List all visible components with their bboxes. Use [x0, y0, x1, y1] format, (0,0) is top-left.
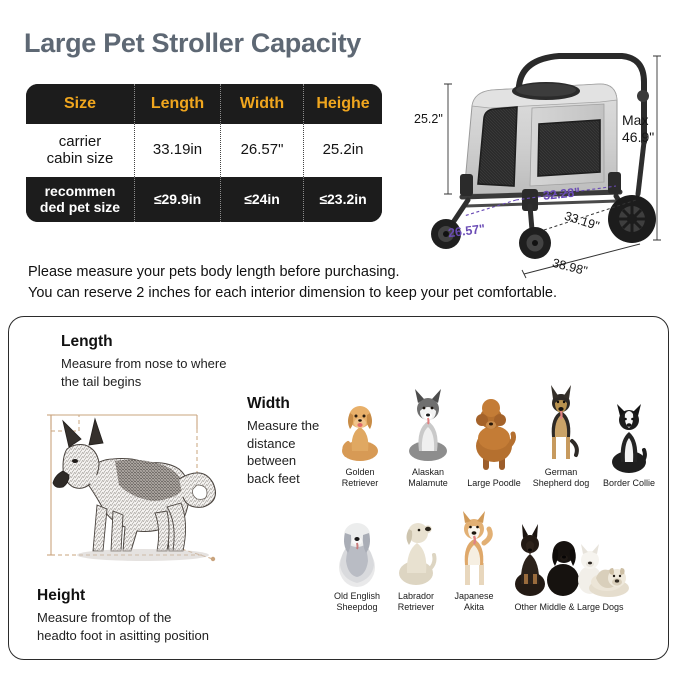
breed-caption: Large Poodle	[467, 476, 521, 489]
spec-table: Size Length Width Heighe carrier cabin s…	[26, 84, 382, 222]
breed-caption: German Shepherd dog	[533, 465, 590, 489]
breed-item-labrador-retriever: Labrador Retriever	[387, 495, 445, 613]
breed-caption: Other Middle & Large Dogs	[514, 600, 623, 613]
column-header-width: Width	[220, 84, 303, 124]
row-label-recommended-pet-size: recommen ded pet size	[26, 177, 134, 222]
german-shepherd-icon	[525, 371, 597, 465]
breed-item-golden-retriever: Golden Retriever	[327, 371, 393, 489]
breed-caption: Border Collie	[603, 476, 655, 489]
column-header-height: Heighe	[303, 84, 382, 124]
japanese-akita-icon	[445, 495, 503, 589]
cell-pet-length: ≤29.9in	[134, 177, 220, 222]
table-row: carrier cabin size 33.19in 26.57" 25.2in	[26, 124, 382, 177]
other-dogs-group-icon	[503, 495, 635, 600]
breed-item-large-poodle: Large Poodle	[463, 371, 525, 489]
measure-guide-panel: Length Measure from nose to where the ta…	[8, 316, 669, 660]
golden-retriever-icon	[327, 371, 393, 465]
cell-cabin-width: 26.57"	[220, 124, 303, 177]
breed-item-border-collie: Border Collie	[597, 371, 661, 489]
breed-caption: Japanese Akita	[454, 589, 493, 613]
note-line-2: You can reserve 2 inches for each interi…	[28, 283, 557, 304]
breed-row-2: Old English Sheepdog Labrador Ret	[327, 495, 663, 613]
row-label-cabin-size: carrier cabin size	[26, 124, 134, 177]
border-collie-icon	[597, 371, 661, 476]
breed-grid: Golden Retriever	[327, 371, 663, 621]
cell-pet-height: ≤23.2in	[303, 177, 382, 222]
breed-item-german-shepherd-dog: German Shepherd dog	[525, 371, 597, 489]
cell-pet-width: ≤24in	[220, 177, 303, 222]
breed-item-other-middle-large-dogs: Other Middle & Large Dogs	[503, 495, 635, 613]
breed-caption: Alaskan Malamute	[393, 465, 463, 489]
breed-item-old-english-sheepdog: Old English Sheepdog	[327, 495, 387, 613]
length-heading: Length	[61, 333, 113, 351]
cell-cabin-height: 25.2in	[303, 124, 382, 177]
breed-caption: Old English Sheepdog	[334, 589, 380, 613]
page-title: Large Pet Stroller Capacity	[24, 28, 361, 59]
height-description: Measure fromtop of the headto foot in as…	[37, 609, 209, 644]
breed-item-japanese-akita: Japanese Akita	[445, 495, 503, 613]
dimension-label-height: 25.2"	[414, 112, 443, 126]
length-description: Measure from nose to where the tail begi…	[61, 355, 226, 390]
dimension-label-max-handle: Max 46.9"	[622, 112, 654, 146]
table-row: recommen ded pet size ≤29.9in ≤24in ≤23.…	[26, 177, 382, 222]
breed-caption: Labrador Retriever	[398, 589, 435, 613]
breed-caption: Golden Retriever	[327, 465, 393, 489]
old-english-sheepdog-icon	[327, 495, 387, 589]
column-header-length: Length	[134, 84, 220, 124]
column-header-size: Size	[26, 84, 134, 124]
cell-cabin-length: 33.19in	[134, 124, 220, 177]
wheel-rear	[608, 195, 656, 243]
table-header-row: Size Length Width Heighe	[26, 84, 382, 124]
dog-measurement-illustration	[27, 387, 287, 587]
stroller-illustration-svg	[404, 34, 676, 284]
breed-row-1: Golden Retriever	[327, 371, 663, 489]
dog-sketch-svg	[27, 387, 287, 587]
labrador-retriever-icon	[387, 495, 445, 589]
height-heading: Height	[37, 587, 85, 605]
large-poodle-icon	[463, 371, 525, 476]
alaskan-malamute-icon	[393, 371, 463, 465]
stroller-product-figure: 25.2" Max 46.9" 32.28" 26.57" 33.19" 38.…	[404, 34, 676, 284]
wheel-front-right	[519, 227, 551, 259]
breed-item-alaskan-malamute: Alaskan Malamute	[393, 371, 463, 489]
